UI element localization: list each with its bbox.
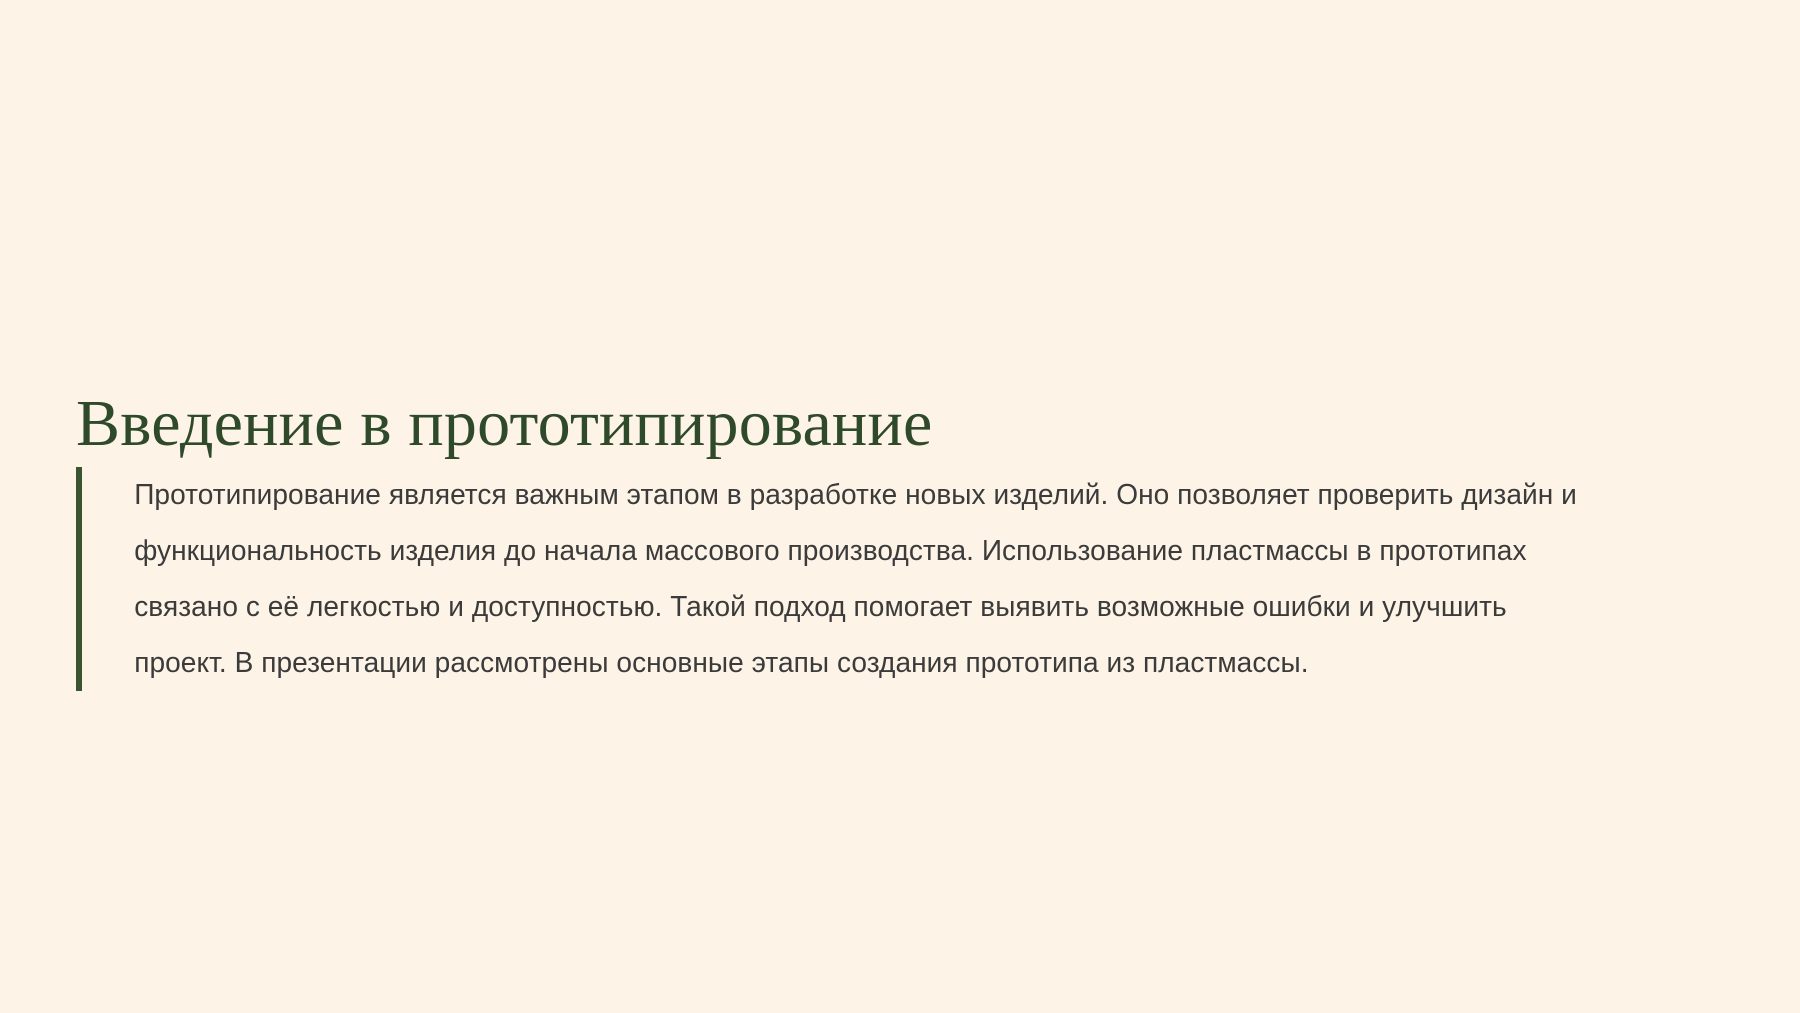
presentation-slide: Введение в прототипирование Прототипиров… [0, 0, 1800, 1013]
page-title: Введение в прототипирование [76, 387, 1716, 461]
body-quote-block: Прототипирование является важным этапом … [76, 467, 1736, 691]
body-line: функциональность изделия до начала массо… [134, 523, 1577, 579]
body-line: Прототипирование является важным этапом … [134, 467, 1577, 523]
body-line: связано с её легкостью и доступностью. Т… [134, 579, 1577, 635]
body-line: проект. В презентации рассмотрены основн… [134, 635, 1577, 691]
body-paragraph: Прототипирование является важным этапом … [82, 467, 1577, 691]
